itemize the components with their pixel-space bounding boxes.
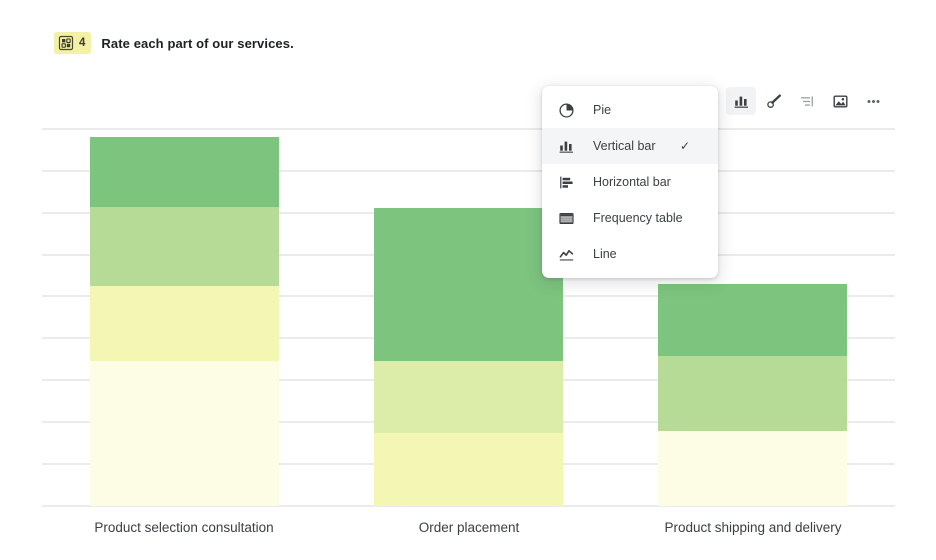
horizontal-bar-icon: [557, 173, 575, 191]
chart-toolbar: [726, 87, 888, 115]
menu-item-label: Frequency table: [593, 211, 683, 225]
bar-segment[interactable]: [374, 361, 563, 433]
pie-chart-icon: [557, 101, 575, 119]
ellipsis-icon: [865, 93, 882, 110]
bar-segment[interactable]: [90, 286, 279, 361]
vertical-bar-icon: [557, 137, 575, 155]
bar-segment[interactable]: [374, 208, 563, 361]
menu-item-frequency-table[interactable]: Frequency table: [542, 200, 718, 236]
bar-segment[interactable]: [90, 207, 279, 286]
bar-group[interactable]: [90, 137, 279, 506]
bar-group[interactable]: [374, 208, 563, 506]
line-chart-icon: [557, 245, 575, 263]
question-title: Rate each part of our services.: [101, 36, 293, 51]
paintbrush-icon: [766, 93, 783, 110]
question-header: 4 Rate each part of our services.: [54, 32, 294, 54]
chart-bars: [42, 128, 895, 506]
menu-item-vertical-bar[interactable]: Vertical bar ✓: [542, 128, 718, 164]
frequency-table-icon: [557, 209, 575, 227]
x-axis-label: Order placement: [419, 520, 520, 535]
menu-item-pie[interactable]: Pie: [542, 92, 718, 128]
bar-chart: [42, 128, 895, 506]
menu-item-line[interactable]: Line: [542, 236, 718, 272]
image-button[interactable]: [825, 87, 855, 115]
bar-segment[interactable]: [374, 433, 563, 506]
chart-type-menu: Pie Vertical bar ✓ Horizontal bar: [542, 86, 718, 278]
style-button[interactable]: [759, 87, 789, 115]
x-axis-label: Product selection consultation: [94, 520, 273, 535]
chart-type-button[interactable]: [726, 87, 756, 115]
multiple-choice-grid-icon: [58, 35, 74, 51]
chart-x-axis-labels: Product selection consultationOrder plac…: [42, 520, 895, 544]
menu-item-label: Horizontal bar: [593, 175, 671, 189]
menu-item-label: Line: [593, 247, 617, 261]
bar-segment[interactable]: [90, 137, 279, 207]
check-icon: ✓: [680, 140, 690, 152]
bar-group[interactable]: [658, 284, 847, 506]
x-axis-label: Product shipping and delivery: [664, 520, 841, 535]
sort-descending-icon: [799, 93, 816, 110]
bar-chart-icon: [733, 93, 750, 110]
sort-button[interactable]: [792, 87, 822, 115]
menu-item-horizontal-bar[interactable]: Horizontal bar: [542, 164, 718, 200]
bar-segment[interactable]: [658, 431, 847, 506]
menu-item-label: Vertical bar: [593, 139, 656, 153]
question-number: 4: [79, 35, 85, 51]
more-options-button[interactable]: [858, 87, 888, 115]
bar-segment[interactable]: [90, 361, 279, 506]
question-type-badge: 4: [54, 32, 91, 54]
menu-item-label: Pie: [593, 103, 611, 117]
bar-segment[interactable]: [658, 356, 847, 431]
image-icon: [832, 93, 849, 110]
bar-segment[interactable]: [658, 284, 847, 356]
